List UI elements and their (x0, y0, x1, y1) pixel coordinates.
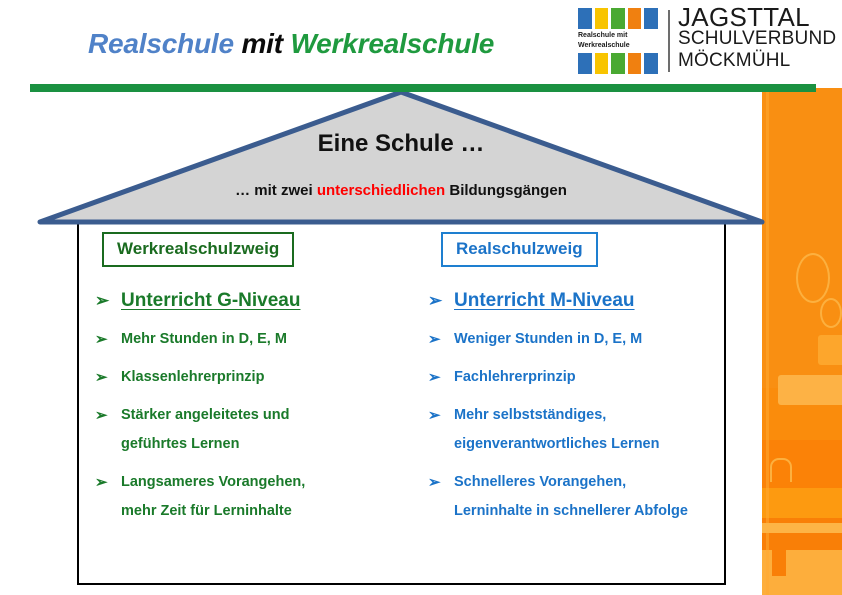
orange-decorative-panel (762, 88, 842, 595)
logo-word-moeckmuehl: MÖCKMÜHL (678, 50, 836, 72)
logo-wordmark: JAGSTTAL SCHULVERBUND MÖCKMÜHL (678, 6, 836, 72)
logo-bar-blue-2 (644, 8, 658, 29)
list-item-label: Stärker angeleitetes und (121, 407, 289, 423)
chevron-right-icon: ➢ (95, 468, 108, 497)
logo-bar-blue-3 (578, 53, 592, 74)
column-werkrealschulzweig: Werkrealschulzweig ➢ Unterricht G-Niveau… (77, 222, 402, 585)
roof-subtitle-post: Bildungsgängen (445, 182, 567, 199)
bullet-list-werkrealschulzweig: ➢ Unterricht G-Niveau ➢ Mehr Stunden in … (89, 286, 398, 535)
orange-panel-ring-large (796, 253, 830, 303)
page-title-part-mit: mit (241, 28, 282, 59)
orange-panel-stripe (762, 523, 842, 533)
page-title-part-realschule: Realschule (88, 28, 234, 59)
list-item: ➢ Unterricht G-Niveau (89, 286, 398, 315)
list-item: ➢ Fachlehrerprinzip (422, 363, 723, 392)
logo-bar-yellow-2 (595, 53, 609, 74)
logo-mark-text-line1: Realschule mit (578, 31, 658, 41)
roof-triangle-shape (36, 88, 766, 228)
list-item: ➢ Stärker angeleitetes und geführtes Ler… (89, 401, 398, 459)
chevron-right-icon: ➢ (428, 286, 442, 315)
list-item-label: Unterricht G-Niveau (121, 290, 300, 311)
chevron-right-icon: ➢ (95, 363, 108, 392)
logo-bar-blue-4 (644, 53, 658, 74)
bullet-list-realschulzweig: ➢ Unterricht M-Niveau ➢ Weniger Stunden … (422, 286, 723, 535)
column-realschulzweig: Realschulzweig ➢ Unterricht M-Niveau ➢ W… (402, 222, 727, 585)
chevron-right-icon: ➢ (428, 468, 441, 497)
list-item: ➢ Schnelleres Vorangehen, Lerninhalte in… (422, 468, 723, 526)
list-item-label: Mehr Stunden in D, E, M (121, 331, 287, 347)
list-item-label: Langsameres Vorangehen, (121, 474, 305, 490)
green-accent-bar (30, 84, 816, 92)
list-item: ➢ Langsameres Vorangehen, mehr Zeit für … (89, 468, 398, 526)
roof-title: Eine Schule … (36, 130, 766, 158)
logo-bar-green-2 (611, 53, 625, 74)
logo-word-jagsttal: JAGSTTAL (678, 6, 836, 28)
roof-subtitle: … mit zwei unterschiedlichen Bildungsgän… (36, 182, 766, 199)
list-item-label-line2: geführtes Lernen (121, 430, 398, 459)
roof-subtitle-highlight: unterschiedlichen (317, 182, 445, 199)
chevron-right-icon: ➢ (428, 363, 441, 392)
logo-bars-bottom (578, 53, 658, 74)
orange-panel-arch (770, 458, 792, 482)
logo-bars-top (578, 8, 658, 29)
chevron-right-icon: ➢ (95, 325, 108, 354)
roof-subtitle-pre: … mit zwei (235, 182, 317, 199)
chevron-right-icon: ➢ (428, 325, 441, 354)
list-item-label-line2: mehr Zeit für Lerninhalte (121, 497, 398, 526)
list-item-label: Klassenlehrerprinzip (121, 369, 264, 385)
logo-divider (668, 10, 670, 72)
logo-bar-blue-1 (578, 8, 592, 29)
logo-bar-orange-2 (628, 53, 642, 74)
logo-bar-yellow-1 (595, 8, 609, 29)
logo-bar-orange-1 (628, 8, 642, 29)
list-item-label-line2: eigenverantwortliches Lernen (454, 430, 723, 459)
chevron-right-icon: ➢ (428, 401, 441, 430)
list-item: ➢ Weniger Stunden in D, E, M (422, 325, 723, 354)
column-header-werkrealschulzweig[interactable]: Werkrealschulzweig (102, 232, 294, 267)
list-item-label: Weniger Stunden in D, E, M (454, 331, 642, 347)
list-item-label: Mehr selbstständiges, (454, 407, 606, 423)
school-logo: Realschule mit Werkrealschule JAGSTTAL S… (576, 6, 808, 76)
roof-triangle: Eine Schule … … mit zwei unterschiedlich… (36, 88, 766, 228)
chevron-right-icon: ➢ (95, 401, 108, 430)
orange-panel-ring-small (820, 298, 842, 328)
list-item: ➢ Klassenlehrerprinzip (89, 363, 398, 392)
branch-columns: Werkrealschulzweig ➢ Unterricht G-Niveau… (77, 222, 726, 585)
list-item: ➢ Mehr selbstständiges, eigenverantwortl… (422, 401, 723, 459)
logo-bar-green-1 (611, 8, 625, 29)
slide-header: Realschule mit Werkrealschule Realschule… (0, 0, 812, 82)
chevron-right-icon: ➢ (95, 286, 109, 315)
slide-canvas: Realschule mit Werkrealschule Realschule… (0, 0, 842, 595)
logo-mark-text-line2: Werkrealschule (578, 41, 658, 51)
list-item-label: Fachlehrerprinzip (454, 369, 576, 385)
orange-panel-block-wide (778, 375, 842, 405)
logo-mark-text: Realschule mit Werkrealschule (578, 31, 658, 51)
column-header-realschulzweig[interactable]: Realschulzweig (441, 232, 598, 267)
logo-mark: Realschule mit Werkrealschule (576, 8, 660, 74)
page-title: Realschule mit Werkrealschule (88, 28, 494, 60)
orange-panel-block-small (818, 335, 842, 365)
list-item-label: Schnelleres Vorangehen, (454, 474, 626, 490)
list-item-label-line2: Lerninhalte in schnellerer Abfolge (454, 497, 723, 526)
page-title-part-werkrealschule: Werkrealschule (290, 28, 494, 59)
list-item: ➢ Mehr Stunden in D, E, M (89, 325, 398, 354)
list-item-label: Unterricht M-Niveau (454, 290, 635, 311)
logo-word-schulverbund: SCHULVERBUND (678, 28, 836, 50)
list-item: ➢ Unterricht M-Niveau (422, 286, 723, 315)
orange-panel-edge-line (766, 88, 769, 595)
orange-panel-tall-block (772, 536, 786, 576)
